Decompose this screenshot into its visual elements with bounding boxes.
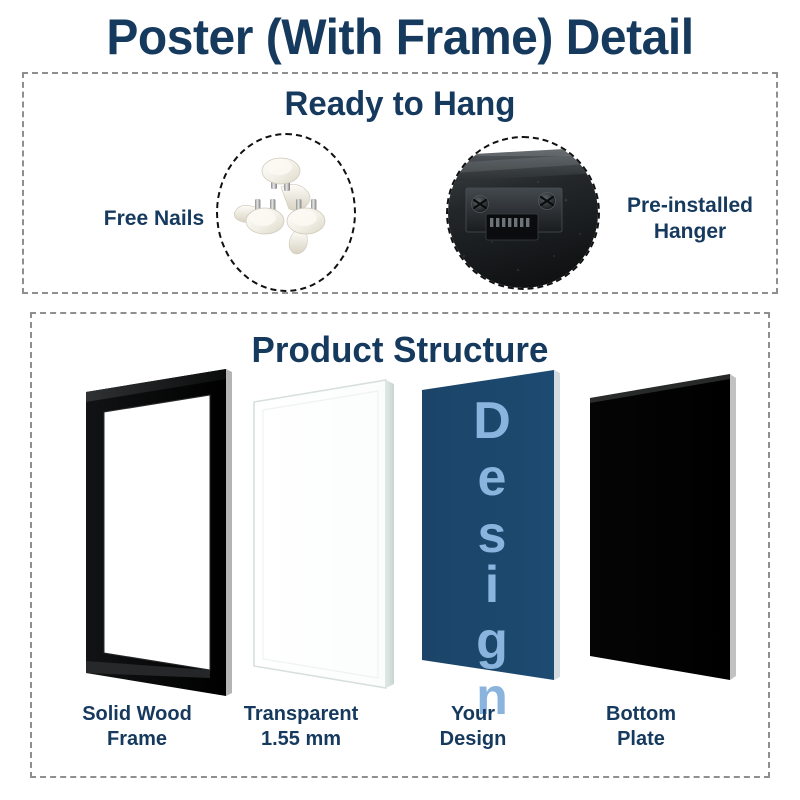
ready-to-hang-section: Ready to Hang Free Nails Pre-installed H… bbox=[22, 72, 778, 294]
hanger-illustration bbox=[448, 138, 598, 288]
pre-installed-hanger-photo bbox=[448, 138, 598, 288]
nails-illustration bbox=[218, 135, 354, 290]
label-glass-line2: 1.55 mm bbox=[261, 728, 341, 750]
pre-installed-hanger-label: Pre-installed Hanger bbox=[600, 184, 780, 254]
label-your-design: Your Design bbox=[388, 702, 558, 752]
label-design-line2: Design bbox=[440, 728, 507, 750]
pre-installed-hanger-photo-frame bbox=[446, 136, 600, 290]
product-structure-title: Product Structure bbox=[43, 328, 757, 372]
ready-to-hang-title: Ready to Hang bbox=[35, 84, 764, 124]
label-transparent-sheet: Transparent 1.55 mm bbox=[216, 702, 386, 752]
label-glass-line1: Transparent bbox=[244, 703, 358, 725]
label-solid-wood-frame: Solid Wood Frame bbox=[52, 702, 222, 752]
hanger-screw-left bbox=[472, 196, 489, 213]
label-frame-line1: Solid Wood bbox=[82, 703, 192, 725]
label-bottom-plate: Bottom Plate bbox=[556, 702, 726, 752]
hanger-screw-right bbox=[539, 193, 556, 210]
free-nails-photo-frame bbox=[216, 133, 356, 292]
label-plate-line1: Bottom bbox=[606, 703, 676, 725]
nail-hook-left bbox=[234, 199, 284, 234]
infographic-page: Poster (With Frame) Detail Ready to Hang… bbox=[0, 0, 800, 800]
hanger-label-line1: Pre-installed bbox=[627, 194, 753, 217]
hanger-label-line2: Hanger bbox=[654, 220, 726, 243]
label-plate-line2: Plate bbox=[617, 728, 665, 750]
free-nails-photo bbox=[218, 135, 354, 290]
nail-hook-top bbox=[262, 158, 310, 210]
page-title: Poster (With Frame) Detail bbox=[16, 8, 784, 66]
label-frame-line2: Frame bbox=[107, 728, 167, 750]
label-design-line1: Your bbox=[451, 703, 495, 725]
